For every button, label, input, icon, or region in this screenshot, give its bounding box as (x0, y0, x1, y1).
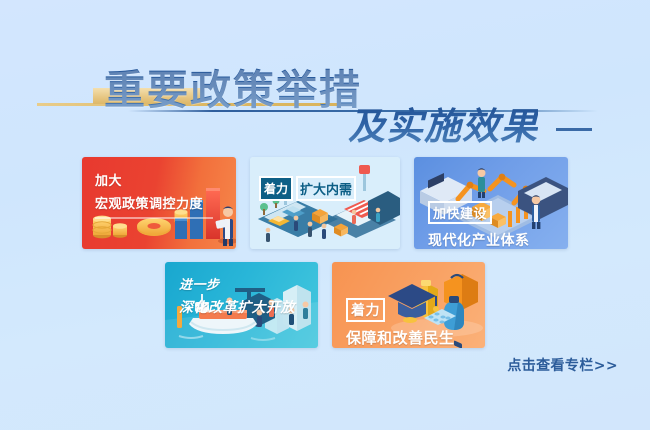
card1-line2: 宏观政策调控力度 (95, 193, 213, 212)
policy-card-expand-demand[interactable]: 着力 扩大内需 (250, 157, 400, 249)
banner-title-block: 重要政策举措 及实施效果 (0, 48, 650, 148)
policy-card-peoples-livelihood[interactable]: 着力 保障和改善民生 (332, 262, 485, 348)
card3-caption: 加快建设 现代化产业体系 (428, 201, 530, 249)
policy-card-reform-opening[interactable]: 进一步 深化改革扩大开放 (165, 262, 318, 348)
card3-line1: 加快建设 (428, 201, 492, 224)
card1-line1: 加大 (95, 170, 213, 189)
card2-caption: 着力 扩大内需 (259, 176, 356, 201)
title-dash-decoration (556, 128, 592, 131)
policy-card-macro-regulation[interactable]: 加大 宏观政策调控力度 (82, 157, 236, 249)
card2-illustration (250, 157, 400, 249)
policy-card-modern-industry[interactable]: 加快建设 现代化产业体系 (414, 157, 568, 249)
card4-line2: 深化改革扩大开放 (179, 297, 295, 317)
view-column-link[interactable]: 点击查看专栏>> (507, 355, 618, 375)
card5-caption: 着力 保障和改善民生 (346, 298, 455, 348)
card5-line2: 保障和改善民生 (346, 327, 455, 348)
card2-line1: 着力 (259, 176, 293, 201)
card4-line1: 进一步 (179, 274, 295, 293)
card3-line2: 现代化产业体系 (428, 230, 530, 249)
city-commerce-icon (250, 157, 400, 249)
page-title-sub: 及实施效果 (348, 96, 538, 150)
policy-banner: 重要政策举措 及实施效果 (0, 0, 650, 430)
card4-caption: 进一步 深化改革扩大开放 (179, 274, 295, 317)
card5-line1: 着力 (346, 298, 385, 322)
card1-underline (95, 217, 213, 219)
card1-caption: 加大 宏观政策调控力度 (95, 170, 213, 219)
card2-line2: 扩大内需 (296, 176, 356, 201)
page-title-main: 重要政策举措 (104, 56, 362, 116)
